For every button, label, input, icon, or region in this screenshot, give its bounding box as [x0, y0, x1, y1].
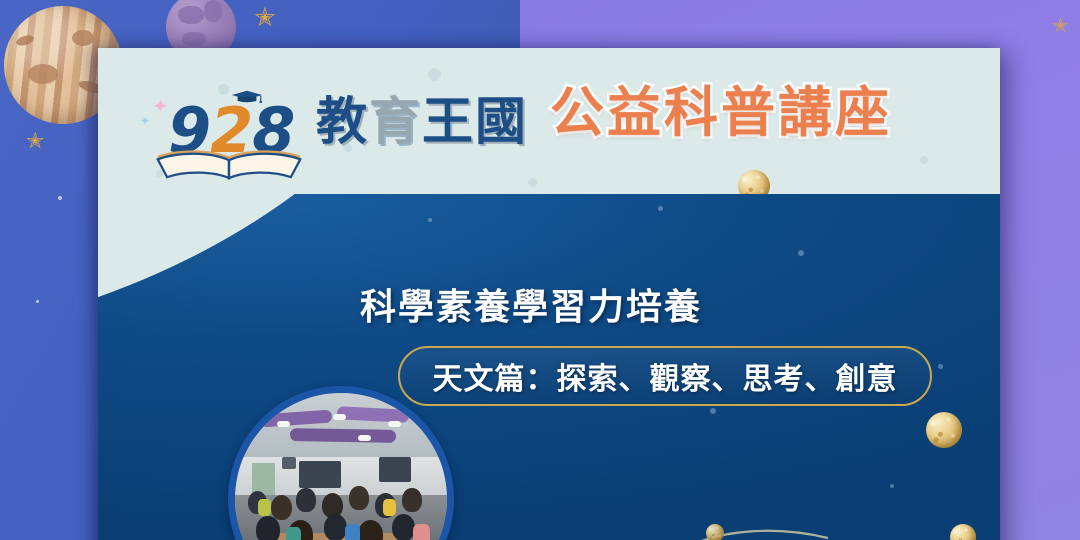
subtitle-text: 天文篇：探索、觀察、思考、創意 — [433, 354, 898, 398]
open-book-icon — [154, 148, 304, 180]
star-dot — [890, 484, 894, 488]
sparkle-star-icon: ✦ — [140, 114, 150, 128]
poster-canvas: ✭ ✭ ✭ ✦ ✦ 928 — [0, 0, 1080, 540]
star-dot — [710, 408, 716, 414]
card-speck — [920, 156, 928, 164]
brand-name: 教育王國 — [316, 94, 528, 150]
brand-logo: ✦ ✦ 928 教育王國 — [134, 88, 564, 180]
subtitle-pill: 天文篇：探索、觀察、思考、創意 — [398, 346, 932, 406]
brand-name-char-2: 育 — [369, 93, 422, 150]
star-dot — [938, 364, 943, 369]
poster-card: ✦ ✦ 928 教育王國 公益科普講座 — [98, 48, 1000, 540]
star-dot — [428, 218, 432, 222]
brand-name-char-3: 王國 — [422, 93, 528, 150]
gold-asteroid-icon — [926, 412, 962, 448]
star-dot — [658, 206, 663, 211]
headline-title: 公益科普講座 — [550, 82, 892, 144]
gold-asteroid-icon — [706, 524, 724, 540]
star-dot — [58, 196, 62, 200]
main-title: 科學素養學習力培養 — [360, 278, 702, 330]
card-speck — [428, 68, 441, 81]
lecture-photo — [228, 386, 454, 540]
star-dot — [798, 250, 804, 256]
gold-star-icon: ✭ — [26, 130, 44, 152]
star-dot — [36, 300, 39, 303]
sparkle-star-icon: ✦ — [152, 94, 169, 119]
brand-name-char-1: 教 — [316, 93, 369, 150]
lecture-photo-image — [235, 393, 447, 540]
gold-star-icon: ✭ — [254, 4, 276, 30]
gold-star-icon: ✭ — [1052, 16, 1069, 36]
